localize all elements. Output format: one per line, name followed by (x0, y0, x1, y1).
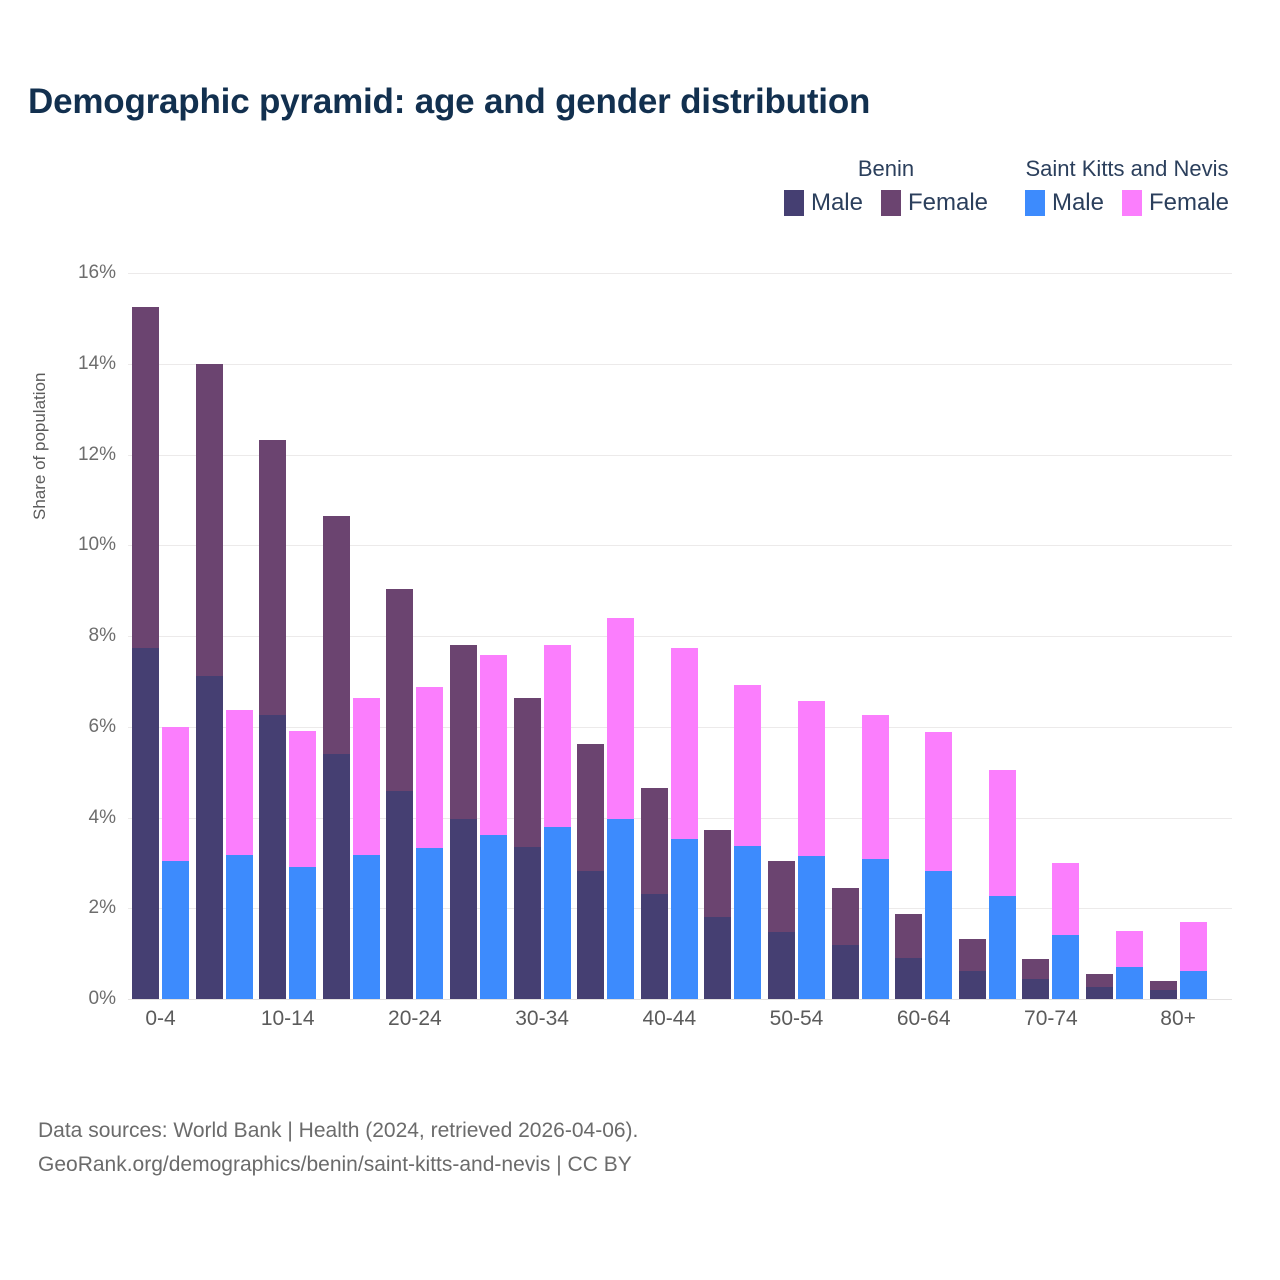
bar-segment-female (480, 655, 507, 835)
bar-benin-20-24[interactable] (386, 589, 413, 999)
bar-skn-0-4[interactable] (162, 727, 189, 999)
bar-skn-20-24[interactable] (416, 687, 443, 999)
legend-item-skn-male[interactable]: Male (1025, 189, 1104, 217)
bar-segment-male (1150, 990, 1177, 999)
bar-benin-25-29[interactable] (450, 645, 477, 999)
bar-group (1022, 273, 1079, 999)
color-swatch-icon (1025, 190, 1045, 216)
bar-segment-female (704, 830, 731, 917)
legend-label: Female (908, 189, 988, 217)
x-axis-tick-label: 20-24 (388, 1007, 442, 1031)
bar-skn-80+[interactable] (1180, 922, 1207, 999)
bar-segment-female (989, 770, 1016, 896)
bar-segment-male (1022, 979, 1049, 999)
chart-footer: Data sources: World Bank | Health (2024,… (38, 1114, 638, 1182)
bar-segment-male (798, 856, 825, 999)
bar-benin-50-54[interactable] (768, 861, 795, 999)
bar-segment-male (162, 861, 189, 999)
bar-benin-30-34[interactable] (514, 698, 541, 999)
bar-group (132, 273, 189, 999)
bar-skn-70-74[interactable] (1052, 863, 1079, 999)
bar-benin-15-19[interactable] (323, 516, 350, 999)
bar-group (323, 273, 380, 999)
bar-benin-65-69[interactable] (959, 939, 986, 999)
legend-country-titles: Benin Saint Kitts and Nevis (770, 156, 1252, 182)
bar-benin-5-9[interactable] (196, 364, 223, 999)
bar-group (641, 273, 698, 999)
bar-segment-female (1150, 981, 1177, 990)
y-axis-tick-label: 4% (26, 807, 116, 829)
bar-benin-35-39[interactable] (577, 744, 604, 999)
bar-benin-0-4[interactable] (132, 307, 159, 999)
bar-segment-female (862, 715, 889, 859)
bar-skn-25-29[interactable] (480, 655, 507, 999)
bar-segment-male (353, 855, 380, 999)
bar-segment-female (1116, 931, 1143, 967)
color-swatch-icon (881, 190, 901, 216)
bar-group (514, 273, 571, 999)
bar-segment-male (671, 839, 698, 999)
bar-segment-female (895, 914, 922, 958)
bar-segment-female (162, 727, 189, 861)
bar-group (832, 273, 889, 999)
bar-segment-female (671, 648, 698, 839)
bar-segment-female (768, 861, 795, 932)
color-swatch-icon (784, 190, 804, 216)
footer-line-2: GeoRank.org/demographics/benin/saint-kit… (38, 1148, 638, 1182)
bar-segment-male (1052, 935, 1079, 999)
bar-segment-female (1022, 959, 1049, 979)
legend-group-saint-kitts-and-nevis: Male Female (1002, 189, 1252, 217)
bar-segment-female (1180, 922, 1207, 971)
bar-segment-female (607, 618, 634, 819)
bar-benin-60-64[interactable] (895, 914, 922, 999)
bar-group (959, 273, 1016, 999)
bar-skn-15-19[interactable] (353, 698, 380, 999)
x-axis-tick-label: 40-44 (642, 1007, 696, 1031)
y-axis-tick-label: 2% (26, 897, 116, 919)
y-axis-tick-label: 14% (26, 353, 116, 375)
bar-skn-55-59[interactable] (862, 715, 889, 999)
legend-item-skn-female[interactable]: Female (1122, 189, 1229, 217)
bar-segment-female (386, 589, 413, 791)
bar-segment-female (798, 701, 825, 855)
color-swatch-icon (1122, 190, 1142, 216)
bar-segment-female (226, 710, 253, 854)
bar-group (577, 273, 634, 999)
bar-skn-75-79[interactable] (1116, 931, 1143, 999)
bar-skn-60-64[interactable] (925, 732, 952, 999)
y-axis-tick-label: 12% (26, 444, 116, 466)
y-axis-tick-label: 6% (26, 716, 116, 738)
legend-group-benin: Male Female (770, 189, 1002, 217)
x-axis-tick-label: 70-74 (1024, 1007, 1078, 1031)
bar-group (386, 273, 443, 999)
y-axis-tick-label: 0% (26, 988, 116, 1010)
bar-benin-70-74[interactable] (1022, 959, 1049, 999)
bar-segment-male (544, 827, 571, 999)
bar-segment-male (1086, 987, 1113, 999)
y-axis-tick-label: 8% (26, 625, 116, 647)
bar-segment-male (259, 715, 286, 999)
bar-segment-male (1116, 967, 1143, 999)
bar-segment-male (450, 819, 477, 999)
bar-segment-female (259, 440, 286, 716)
footer-line-1: Data sources: World Bank | Health (2024,… (38, 1114, 638, 1148)
bar-group (895, 273, 952, 999)
bar-segment-female (734, 685, 761, 846)
bar-benin-75-79[interactable] (1086, 974, 1113, 999)
bar-segment-male (734, 846, 761, 999)
x-axis-tick-label: 50-54 (770, 1007, 824, 1031)
bar-skn-10-14[interactable] (289, 731, 316, 999)
bar-segment-male (386, 791, 413, 999)
bar-segment-male (925, 871, 952, 999)
bar-group (196, 273, 253, 999)
legend-item-benin-female[interactable]: Female (881, 189, 988, 217)
legend-country-saint-kitts-and-nevis: Saint Kitts and Nevis (1002, 156, 1252, 182)
x-axis-baseline (128, 999, 1232, 1000)
bar-segment-female (577, 744, 604, 871)
bar-benin-40-44[interactable] (641, 788, 668, 999)
x-axis-tick-label: 10-14 (261, 1007, 315, 1031)
bar-segment-female (1086, 974, 1113, 987)
bar-segment-male (514, 847, 541, 999)
bar-group (1150, 273, 1207, 999)
bar-segment-female (289, 731, 316, 867)
bar-segment-female (323, 516, 350, 754)
x-axis-tick-label: 60-64 (897, 1007, 951, 1031)
bar-segment-female (959, 939, 986, 971)
bar-segment-male (480, 835, 507, 999)
x-axis-tick-label: 80+ (1160, 1007, 1196, 1031)
plot-area: 0%2%4%6%8%10%12%14%16%0-410-1420-2430-34… (128, 273, 1232, 999)
bar-skn-5-9[interactable] (226, 710, 253, 999)
bar-skn-45-49[interactable] (734, 685, 761, 999)
bar-segment-female (514, 698, 541, 847)
bar-segment-female (353, 698, 380, 855)
bar-skn-65-69[interactable] (989, 770, 1016, 999)
bar-segment-male (289, 867, 316, 999)
bar-segment-female (832, 888, 859, 945)
bar-segment-male (895, 958, 922, 999)
bar-segment-male (768, 932, 795, 999)
bar-segment-male (577, 871, 604, 999)
bar-segment-male (196, 676, 223, 999)
bar-benin-80+[interactable] (1150, 981, 1177, 999)
bar-benin-55-59[interactable] (832, 888, 859, 999)
bar-segment-female (132, 307, 159, 648)
bar-skn-30-34[interactable] (544, 645, 571, 999)
y-axis-tick-label: 16% (26, 262, 116, 284)
chart-legend: Benin Saint Kitts and Nevis Male Female … (770, 156, 1252, 217)
legend-item-benin-male[interactable]: Male (784, 189, 863, 217)
bar-segment-male (226, 855, 253, 999)
bar-segment-male (989, 896, 1016, 999)
bar-segment-female (450, 645, 477, 820)
bar-segment-female (544, 645, 571, 827)
bar-segment-male (862, 859, 889, 999)
bar-skn-50-54[interactable] (798, 701, 825, 999)
legend-label: Female (1149, 189, 1229, 217)
bar-segment-female (196, 364, 223, 676)
bar-benin-10-14[interactable] (259, 440, 286, 999)
bar-segment-male (959, 971, 986, 999)
legend-label: Male (811, 189, 863, 217)
bar-segment-male (607, 819, 634, 999)
chart-page: Demographic pyramid: age and gender dist… (0, 0, 1280, 1280)
bar-group (1086, 273, 1143, 999)
bar-segment-male (832, 945, 859, 999)
legend-label: Male (1052, 189, 1104, 217)
bar-segment-male (416, 848, 443, 999)
x-axis-tick-label: 30-34 (515, 1007, 569, 1031)
bar-segment-female (1052, 863, 1079, 936)
y-axis-tick-label: 10% (26, 534, 116, 556)
legend-entries: Male Female Male Female (770, 189, 1252, 217)
bar-segment-male (1180, 971, 1207, 999)
x-axis-tick-label: 0-4 (145, 1007, 175, 1031)
bar-segment-male (641, 894, 668, 999)
bar-skn-35-39[interactable] (607, 618, 634, 999)
bar-benin-45-49[interactable] (704, 830, 731, 999)
bar-segment-female (641, 788, 668, 894)
bar-segment-male (132, 648, 159, 999)
bar-segment-male (704, 917, 731, 999)
bar-group (450, 273, 507, 999)
bar-segment-female (416, 687, 443, 848)
bar-segment-female (925, 732, 952, 870)
page-title: Demographic pyramid: age and gender dist… (28, 82, 870, 122)
bar-group (704, 273, 761, 999)
bar-group (259, 273, 316, 999)
legend-country-benin: Benin (770, 156, 1002, 182)
bar-group (768, 273, 825, 999)
bar-skn-40-44[interactable] (671, 648, 698, 999)
bar-segment-male (323, 754, 350, 999)
